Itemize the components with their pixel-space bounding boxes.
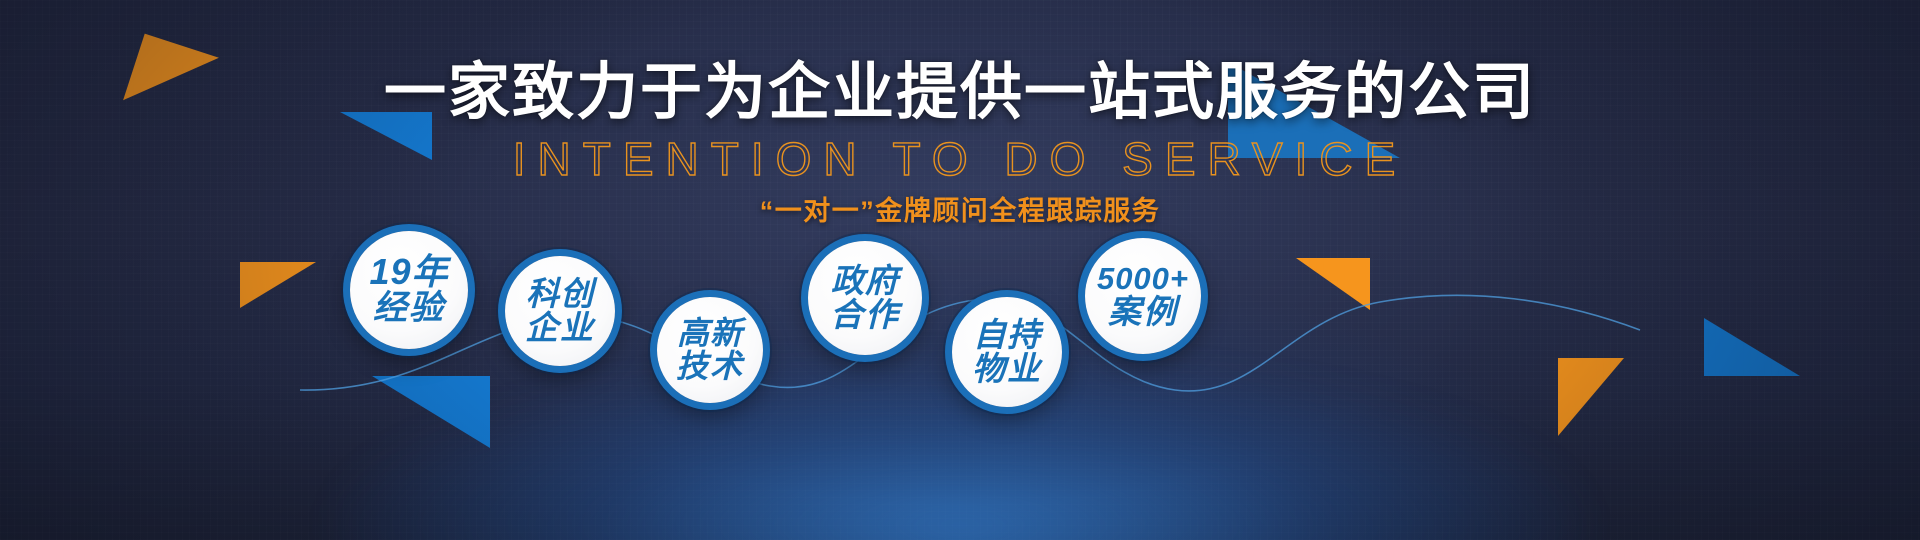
feature-badge[interactable]: 19年经验 bbox=[350, 231, 468, 349]
badge-line-1: 自持 bbox=[973, 318, 1041, 352]
badge-line-2: 合作 bbox=[830, 298, 900, 332]
badge-line-2: 物业 bbox=[972, 352, 1042, 386]
feature-badge[interactable]: 自持物业 bbox=[952, 297, 1062, 407]
badge-line-1: 科创 bbox=[526, 277, 594, 311]
badge-line-2: 技术 bbox=[676, 350, 744, 383]
badge-line-2: 案例 bbox=[1108, 295, 1178, 329]
badge-line-1: 19年 bbox=[369, 254, 448, 291]
badge-line-1: 高新 bbox=[677, 317, 743, 350]
feature-badge[interactable]: 政府合作 bbox=[808, 241, 922, 355]
feature-badge[interactable]: 5000+案例 bbox=[1085, 238, 1201, 354]
feature-badge-group: 19年经验科创企业高新技术政府合作自持物业5000+案例 bbox=[0, 0, 1920, 540]
badge-line-1: 政府 bbox=[831, 264, 899, 298]
feature-badge[interactable]: 高新技术 bbox=[657, 297, 763, 403]
badge-line-2: 企业 bbox=[525, 311, 595, 345]
badge-line-2: 经验 bbox=[373, 291, 445, 326]
hero-banner: 一家致力于为企业提供一站式服务的公司 INTENTION TO DO SERVI… bbox=[0, 0, 1920, 540]
feature-badge[interactable]: 科创企业 bbox=[505, 256, 615, 366]
badge-line-1: 5000+ bbox=[1097, 263, 1189, 295]
